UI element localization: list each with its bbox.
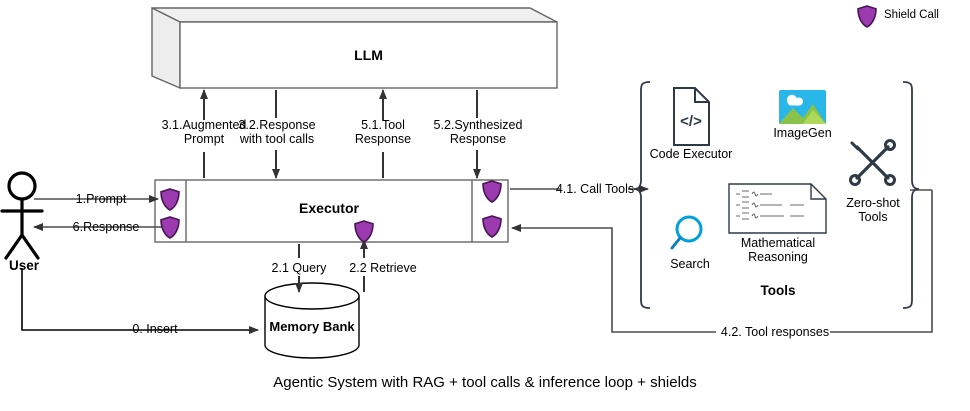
memory-bank-label: Memory Bank	[265, 320, 359, 334]
shield-icon-legend	[858, 6, 876, 27]
tool-label-math-1: Mathematical	[733, 236, 823, 250]
crossed-tools-icon	[851, 141, 895, 185]
edge-label-retrieve: 2.2 Retrieve	[333, 261, 433, 275]
edge-label-insert: 0. Insert	[55, 322, 255, 336]
edge-label-response-tool-calls-1: 3.2.Response	[222, 118, 332, 132]
tool-label-zeroshot-1: Zero-shot	[840, 196, 906, 210]
diagram-caption: Agentic System with RAG + tool calls & i…	[0, 376, 970, 390]
math-document-icon	[729, 184, 826, 233]
edge-insert	[22, 268, 258, 330]
tool-label-math-2: Reasoning	[733, 250, 823, 264]
edge-label-tool-responses: 4.2. Tool responses	[700, 325, 850, 339]
tool-label-code-executor: Code Executor	[645, 147, 737, 161]
tools-group-label: Tools	[728, 284, 828, 298]
tool-label-imagegen: ImageGen	[765, 126, 840, 140]
llm-label: LLM	[180, 48, 557, 62]
image-gen-icon	[779, 90, 826, 124]
user-node	[2, 173, 42, 258]
legend-shield-label: Shield Call	[884, 8, 970, 22]
tool-label-zeroshot-2: Tools	[840, 210, 906, 224]
edge-label-call-tools: 4.1. Call Tools	[537, 182, 653, 196]
edge-label-tool-response-1: 5.1.Tool	[340, 118, 426, 132]
user-label: User	[0, 259, 48, 273]
edge-label-synthesized-1: 5.2.Synthesized	[422, 118, 534, 132]
code-document-icon: </>	[674, 88, 709, 145]
tool-label-search: Search	[655, 257, 725, 271]
edge-label-query: 2.1 Query	[254, 261, 344, 275]
executor-label: Executor	[186, 201, 472, 215]
edge-label-tool-response-2: Response	[340, 132, 426, 146]
search-icon	[672, 217, 701, 248]
edge-label-prompt: 1.Prompt	[46, 192, 156, 206]
edge-label-response: 6.Response	[46, 220, 166, 234]
edge-label-response-tool-calls-2: with tool calls	[222, 132, 332, 146]
edge-label-synthesized-2: Response	[422, 132, 534, 146]
svg-text:</>: </>	[680, 113, 702, 130]
